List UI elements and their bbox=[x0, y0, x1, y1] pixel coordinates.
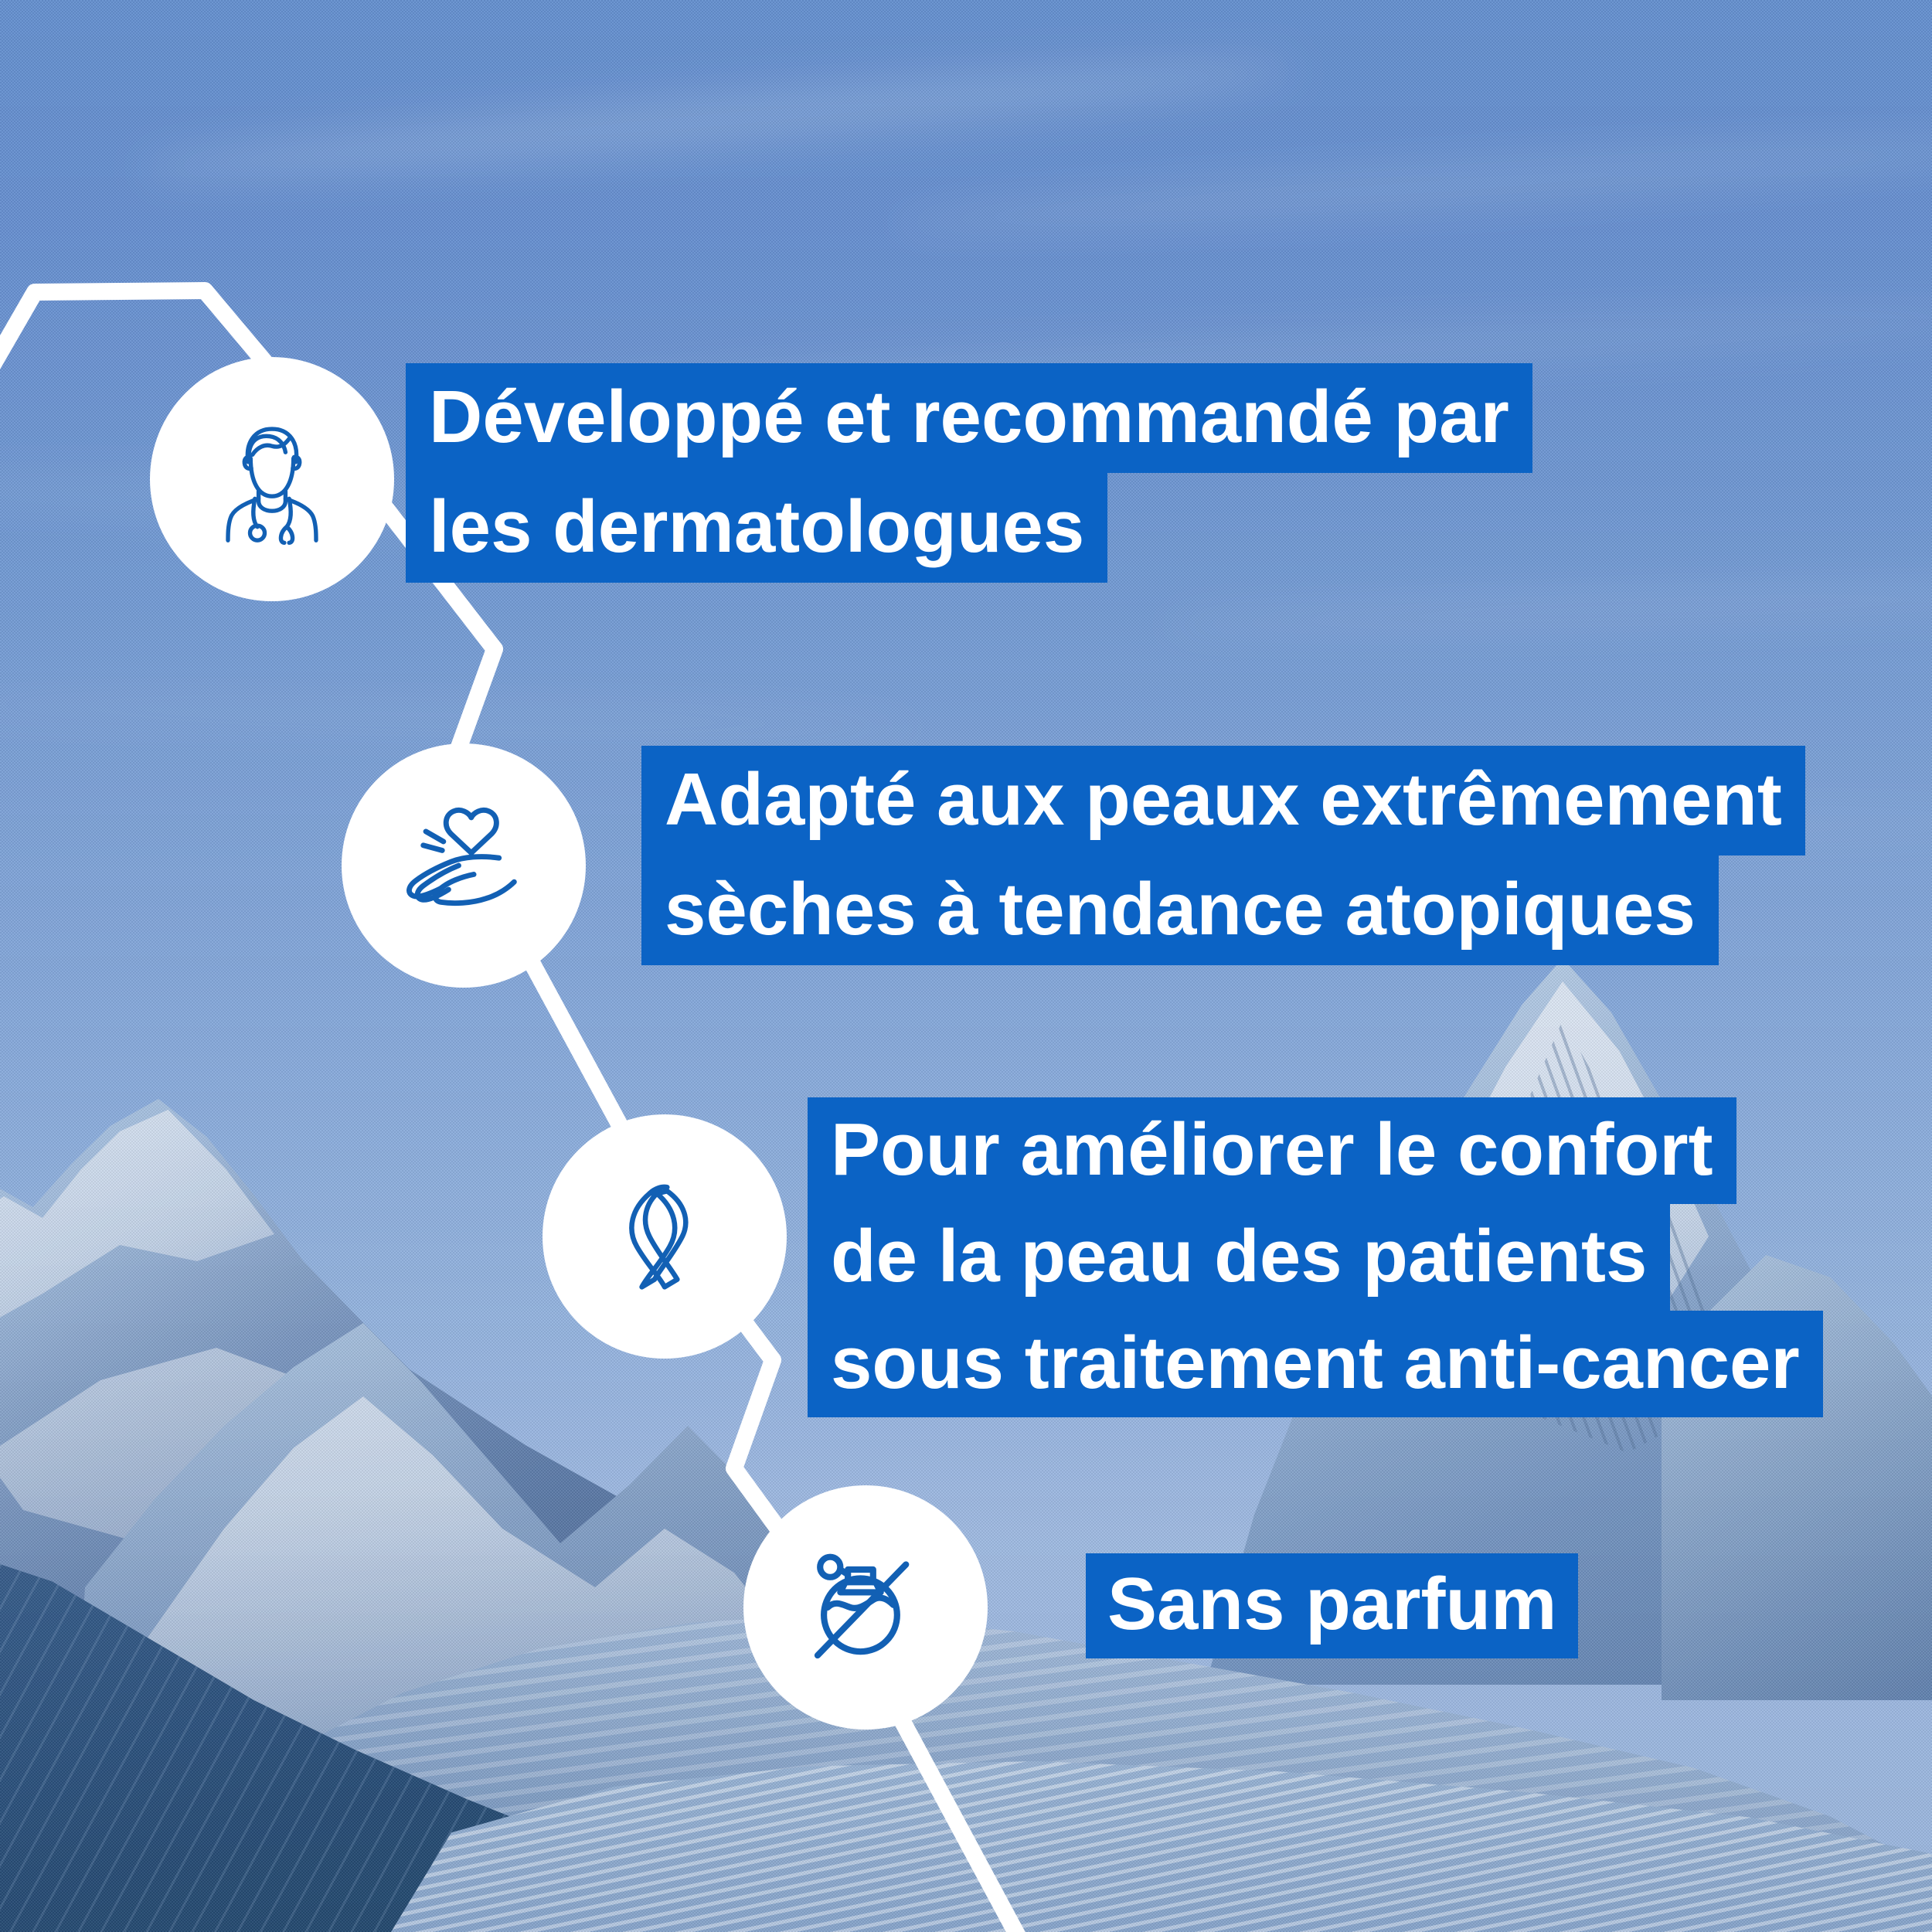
benefit-icon-bubble-4[interactable] bbox=[743, 1485, 988, 1730]
benefit-text-1-line-2: les dermatologues bbox=[406, 473, 1107, 583]
awareness-ribbon-icon bbox=[589, 1161, 740, 1312]
benefit-text-3-line-3: sous traitement anti-cancer bbox=[808, 1311, 1823, 1417]
benefit-icon-bubble-1[interactable] bbox=[150, 357, 394, 601]
benefit-text-1: Développé et recommandé par les dermatol… bbox=[406, 363, 1532, 583]
hand-heart-icon bbox=[388, 790, 539, 941]
benefit-text-1-line-1: Développé et recommandé par bbox=[406, 363, 1532, 473]
benefit-text-3: Pour améliorer le confort de la peau des… bbox=[808, 1097, 1823, 1417]
benefit-text-2-line-2: sèches à tendance atopiques bbox=[641, 855, 1719, 965]
benefit-icon-bubble-2[interactable] bbox=[342, 743, 586, 988]
benefit-text-2-line-1: Adapté aux peaux extrêmement bbox=[641, 746, 1805, 855]
doctor-stethoscope-icon bbox=[199, 406, 345, 553]
no-perfume-icon bbox=[790, 1532, 941, 1683]
benefit-text-3-line-2: de la peau des patients bbox=[808, 1204, 1670, 1311]
benefit-text-4: Sans parfum bbox=[1086, 1553, 1578, 1658]
benefit-text-4-line-1: Sans parfum bbox=[1086, 1553, 1578, 1658]
infographic-canvas: Développé et recommandé par les dermatol… bbox=[0, 0, 1932, 1932]
benefit-icon-bubble-3[interactable] bbox=[543, 1114, 787, 1359]
benefit-text-2: Adapté aux peaux extrêmement sèches à te… bbox=[641, 746, 1805, 965]
benefit-text-3-line-1: Pour améliorer le confort bbox=[808, 1097, 1736, 1204]
